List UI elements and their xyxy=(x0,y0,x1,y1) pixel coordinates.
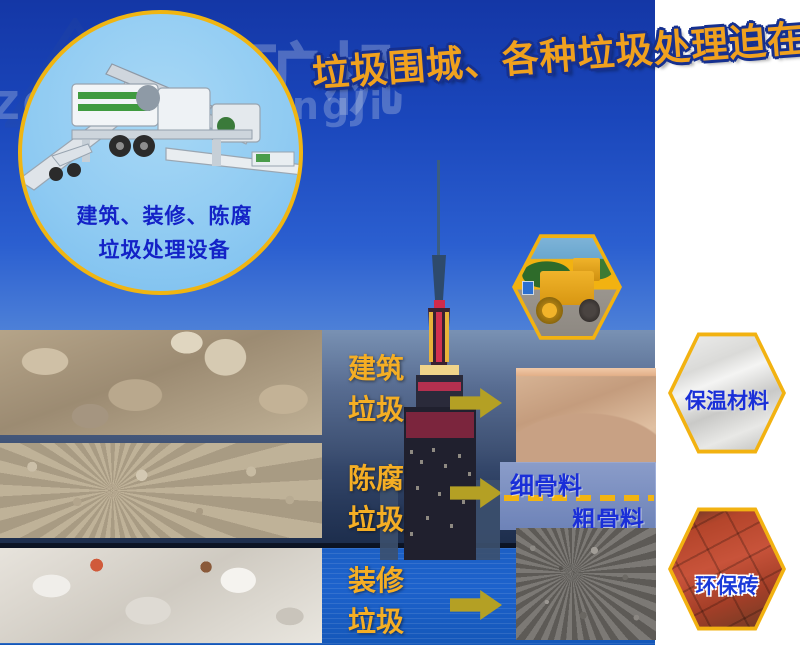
road-roller-photo xyxy=(516,236,618,338)
renovation-waste-photo xyxy=(0,548,322,643)
flow-label-aged-line2: 垃圾 xyxy=(348,499,448,540)
flow-label-construction-line1: 建筑 xyxy=(348,348,448,389)
flow-label-construction: 建筑 垃圾 xyxy=(348,348,448,430)
flow-label-aged-line1: 陈腐 xyxy=(348,458,448,499)
feature-circle-caption: 建筑、装修、陈腐 垃圾处理设备 xyxy=(22,199,303,267)
insulation-material-hexagon[interactable] xyxy=(668,330,786,456)
flow-label-construction-line2: 垃圾 xyxy=(348,389,448,430)
eco-brick-photo xyxy=(672,509,782,629)
insulation-material-photo xyxy=(672,334,782,452)
coarse-aggregate-photo xyxy=(516,528,656,640)
flow-label-renovation-line2: 垃圾 xyxy=(348,601,448,642)
feature-circle[interactable]: 建筑、装修、陈腐 垃圾处理设备 xyxy=(18,10,303,295)
caption-line-2: 垃圾处理设备 xyxy=(22,233,303,267)
caption-line-1: 建筑、装修、陈腐 xyxy=(22,199,303,233)
flow-label-renovation-line1: 装修 xyxy=(348,560,448,601)
fine-aggregate-label: 细骨料 xyxy=(510,466,582,501)
aged-waste-photo xyxy=(0,443,322,538)
poster-stage: 中誉矿机 ZOOMJO ZhangJi xyxy=(0,0,800,650)
mobile-crushing-plant-image xyxy=(18,48,303,198)
eco-brick-hexagon[interactable] xyxy=(668,505,786,633)
construction-rubble-photo xyxy=(0,330,322,435)
flow-label-renovation: 装修 垃圾 xyxy=(348,560,448,642)
fine-aggregate-photo xyxy=(516,368,656,463)
flow-label-aged: 陈腐 垃圾 xyxy=(348,458,448,540)
